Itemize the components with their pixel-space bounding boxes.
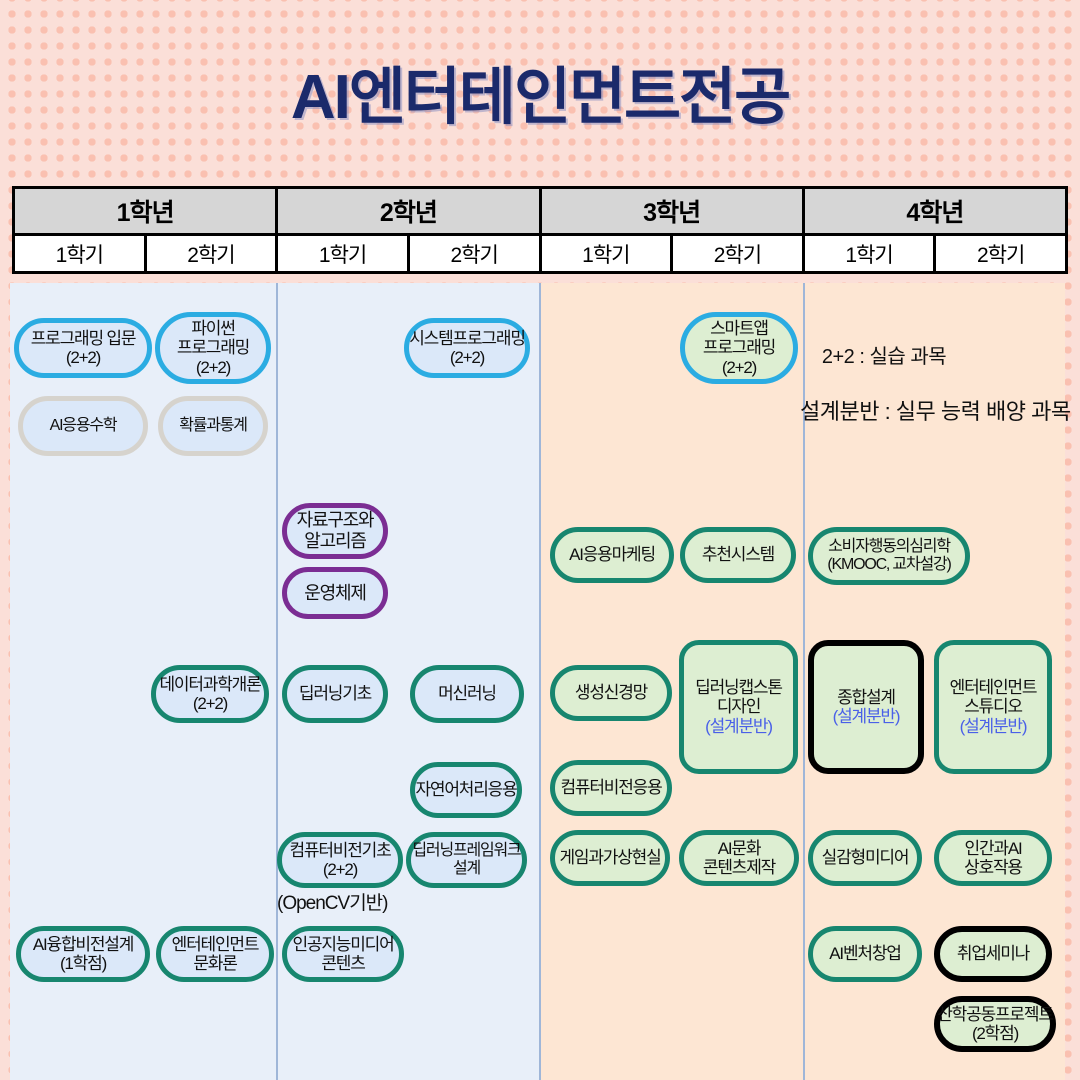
course-label-line: 인간과AI	[965, 839, 1022, 858]
course-node[interactable]: 추천시스템	[680, 527, 796, 583]
course-label-line: 데이터과학개론	[159, 675, 260, 694]
course-node[interactable]: 엔터테인먼트스튜디오(설계분반)	[934, 640, 1052, 774]
course-node[interactable]: 게임과가상현실	[550, 830, 670, 886]
course-label-line: (설계분반)	[705, 717, 772, 736]
semester-cell[interactable]: 1학기	[542, 236, 674, 271]
semester-cell[interactable]: 1학기	[15, 236, 147, 271]
course-label-line: 딥러닝캡스톤	[695, 678, 782, 697]
course-label-line: 시스템프로그래밍	[409, 329, 525, 348]
course-label-line: 스마트앱	[710, 319, 768, 338]
course-label-line: (설계분반)	[833, 707, 900, 726]
year-label-4: 4학년	[805, 189, 1065, 236]
course-label-line: 인공지능미디어	[292, 935, 393, 954]
semester-cell[interactable]: 2학기	[673, 236, 802, 271]
course-node[interactable]: 파이썬프로그래밍(2+2)	[155, 312, 271, 384]
course-label-line: 취업세미나	[957, 944, 1029, 963]
course-label-line: 파이썬	[191, 319, 234, 338]
course-label-line: (2학점)	[972, 1024, 1018, 1043]
course-node[interactable]: 자연어처리응용	[410, 762, 522, 818]
course-label-line: 스튜디오	[964, 697, 1022, 716]
legend-practice: 2+2 : 실습 과목	[822, 340, 946, 369]
course-label-line: 머신러닝	[438, 684, 496, 703]
course-node[interactable]: 머신러닝	[410, 665, 524, 723]
course-label-line: AI융합비전설계	[33, 935, 133, 954]
course-label-line: 콘텐츠제작	[703, 858, 775, 877]
course-node[interactable]: 자료구조와알고리즘	[282, 503, 388, 559]
year-semester-header: 1학년 1학기 2학기 2학년 1학기 2학기 3학년 1학기 2학기 4학년 …	[12, 186, 1068, 274]
course-node[interactable]: 컴퓨터비전기초(2+2)	[277, 832, 403, 888]
course-label-line: (2+2)	[193, 694, 227, 713]
course-node[interactable]: 인간과AI상호작용	[934, 830, 1052, 886]
course-label-line: 산학공동프로젝트	[937, 1005, 1053, 1024]
course-label-line: 컴퓨터비전기초	[289, 841, 390, 860]
course-label-line: 문화론	[193, 954, 236, 973]
course-label-line: AI벤처창업	[829, 944, 900, 963]
semester-row-2: 1학기 2학기	[278, 236, 538, 271]
course-label-line: (설계분반)	[960, 717, 1027, 736]
course-label-line: 실감형미디어	[822, 848, 909, 867]
course-label-line: 프로그래밍	[177, 338, 249, 357]
page-title: AI엔터테인먼트전공	[0, 46, 1080, 136]
course-node[interactable]: 컴퓨터비전응용	[550, 760, 672, 816]
course-label-line: (2+2)	[450, 348, 484, 367]
course-node[interactable]: 딥러닝프레임워크설계	[406, 832, 527, 888]
course-node[interactable]: 인공지능미디어콘텐츠	[282, 926, 404, 982]
course-label-line: 딥러닝기초	[299, 684, 371, 703]
course-node[interactable]: 산학공동프로젝트(2학점)	[934, 996, 1056, 1052]
course-node[interactable]: AI응용수학	[18, 396, 148, 456]
course-node[interactable]: 스마트앱프로그래밍(2+2)	[680, 312, 798, 384]
course-node[interactable]: 확률과통계	[158, 396, 268, 456]
course-label-line: 종합설계	[837, 688, 895, 707]
caption-opencv: (OpenCV기반)	[277, 888, 388, 915]
course-label-line: 엔터테인먼트	[950, 678, 1037, 697]
course-label-line: AI문화	[718, 839, 761, 858]
course-label-line: (KMOOC, 교차설강)	[827, 556, 950, 574]
semester-cell[interactable]: 2학기	[147, 236, 276, 271]
semester-cell[interactable]: 1학기	[805, 236, 937, 271]
semester-row-4: 1학기 2학기	[805, 236, 1065, 271]
course-label-line: (2+2)	[196, 358, 230, 377]
course-label-line: (2+2)	[66, 348, 100, 367]
year-column-3: 3학년 1학기 2학기	[542, 189, 805, 271]
course-node[interactable]: 엔터테인먼트문화론	[156, 926, 274, 982]
year-label-1: 1학년	[15, 189, 275, 236]
course-node[interactable]: 소비자행동의심리학(KMOOC, 교차설강)	[808, 527, 970, 585]
year-column-4: 4학년 1학기 2학기	[805, 189, 1065, 271]
course-label-line: 딥러닝프레임워크	[412, 842, 520, 860]
course-node[interactable]: 딥러닝기초	[282, 665, 388, 723]
course-node[interactable]: AI문화콘텐츠제작	[679, 830, 799, 886]
column-divider-y1s1-y1s2	[276, 283, 278, 1080]
course-node[interactable]: 프로그래밍 입문(2+2)	[14, 318, 152, 378]
course-label-line: 설계	[453, 860, 480, 878]
semester-cell[interactable]: 1학기	[278, 236, 410, 271]
course-node[interactable]: 생성신경망	[550, 665, 672, 721]
semester-row-1: 1학기 2학기	[15, 236, 275, 271]
course-label-line: 추천시스템	[702, 545, 774, 564]
year-label-2: 2학년	[278, 189, 538, 236]
semester-cell[interactable]: 2학기	[936, 236, 1065, 271]
course-node[interactable]: 운영체제	[282, 567, 388, 619]
course-label-line: 게임과가상현실	[559, 848, 660, 867]
course-node[interactable]: 취업세미나	[934, 926, 1052, 982]
course-node[interactable]: 시스템프로그래밍(2+2)	[404, 318, 530, 378]
legend-design-section: 설계분반 : 실무 능력 배양 과목	[800, 394, 1071, 426]
course-label-line: 운영체제	[304, 583, 365, 604]
course-node[interactable]: 실감형미디어	[808, 830, 922, 886]
course-label-line: 알고리즘	[304, 531, 365, 552]
course-label-line: 콘텐츠	[321, 954, 364, 973]
course-node[interactable]: AI벤처창업	[808, 926, 922, 982]
course-label-line: (2+2)	[722, 358, 756, 377]
course-node[interactable]: AI응용마케팅	[550, 527, 674, 583]
course-label-line: 자료구조와	[297, 510, 374, 531]
course-label-line: 상호작용	[964, 858, 1022, 877]
course-label-line: 디자인	[717, 697, 760, 716]
course-node[interactable]: 딥러닝캡스톤디자인(설계분반)	[679, 640, 798, 774]
course-node[interactable]: 데이터과학개론(2+2)	[151, 665, 269, 723]
year-label-3: 3학년	[542, 189, 802, 236]
course-label-line: (2+2)	[323, 860, 357, 879]
course-label-line: 프로그래밍 입문	[31, 329, 136, 348]
course-node[interactable]: AI융합비전설계(1학점)	[16, 926, 150, 982]
course-label-line: 소비자행동의심리학	[828, 538, 950, 556]
course-label-line: 프로그래밍	[703, 338, 775, 357]
course-label-line: 컴퓨터비전응용	[560, 778, 661, 797]
course-label-line: 생성신경망	[575, 683, 647, 702]
column-divider-y2-y3	[539, 283, 541, 1080]
semester-row-3: 1학기 2학기	[542, 236, 802, 271]
course-label-line: (1학점)	[60, 954, 106, 973]
course-label-line: AI응용마케팅	[569, 545, 655, 564]
year-column-2: 2학년 1학기 2학기	[278, 189, 541, 271]
course-label-line: 엔터테인먼트	[172, 935, 259, 954]
semester-cell[interactable]: 2학기	[410, 236, 539, 271]
course-label-line: 자연어처리응용	[415, 780, 516, 799]
course-label-line: 확률과통계	[179, 417, 247, 435]
year-column-1: 1학년 1학기 2학기	[15, 189, 278, 271]
course-label-line: AI응용수학	[50, 417, 117, 435]
course-node[interactable]: 종합설계(설계분반)	[808, 640, 924, 774]
